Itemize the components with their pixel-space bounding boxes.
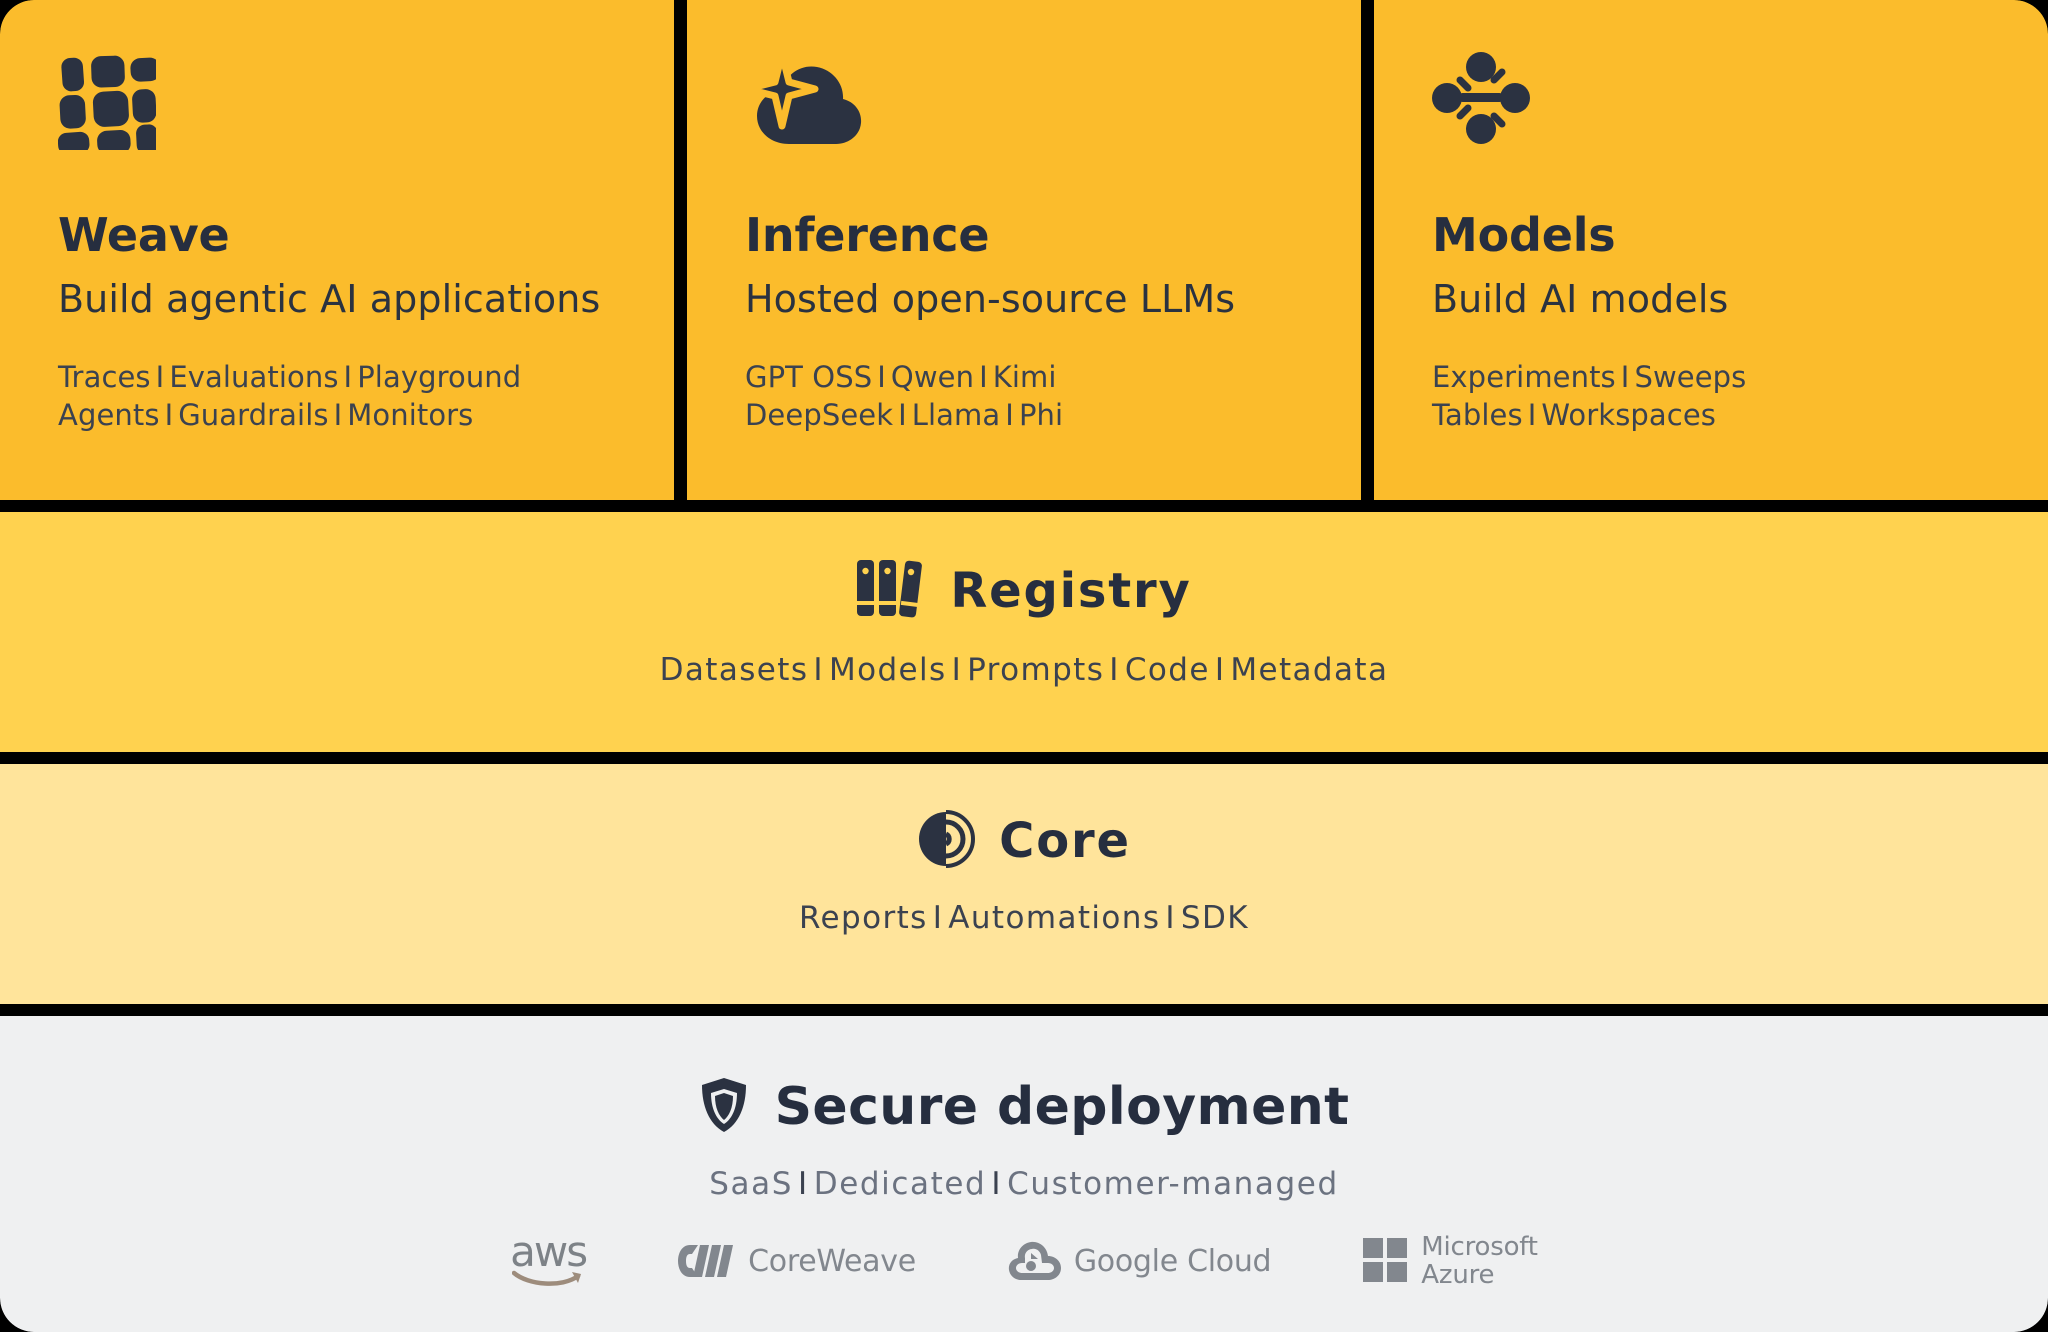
core-item: Reports [799, 900, 928, 936]
google-cloud-logo[interactable]: Google Cloud [1008, 1230, 1271, 1292]
card-title: Models [1432, 212, 1990, 258]
core-subtitle: ReportsIAutomationsISDK [799, 900, 1249, 936]
card-features: GPT OSSIQwenIKimi DeepSeekILlamaIPhi [745, 358, 1303, 435]
band-registry[interactable]: Registry DatasetsIModelsIPromptsICodeIMe… [0, 512, 2048, 752]
microsoft-line: Microsoft [1421, 1233, 1538, 1261]
core-item: SDK [1181, 900, 1249, 936]
azure-line: Azure [1421, 1261, 1538, 1289]
feature-item: Experiments [1432, 360, 1616, 394]
secure-item: Dedicated [814, 1166, 987, 1202]
feature-item: GPT OSS [745, 360, 872, 394]
weave-grid-icon [58, 52, 616, 148]
aws-smile-icon [512, 1270, 584, 1288]
core-header: Core [917, 810, 1131, 872]
platform-architecture-diagram: Weave Build agentic AI applications Trac… [0, 0, 2048, 1332]
feature-item: Guardrails [178, 398, 328, 432]
feature-item: Phi [1019, 398, 1063, 432]
card-weave[interactable]: Weave Build agentic AI applications Trac… [0, 0, 674, 500]
secure-subtitle: SaaSIDedicatedICustomer-managed [709, 1166, 1339, 1202]
aws-wordmark: aws [510, 1234, 586, 1270]
card-models[interactable]: Models Build AI models ExperimentsISweep… [1374, 0, 2048, 500]
product-cards-row: Weave Build agentic AI applications Trac… [0, 0, 2048, 500]
card-subtitle: Build agentic AI applications [58, 280, 616, 320]
registry-item: Code [1125, 652, 1210, 688]
registry-subtitle: DatasetsIModelsIPromptsICodeIMetadata [660, 652, 1389, 688]
microsoft-azure-wordmark: Microsoft Azure [1421, 1233, 1538, 1289]
feature-item: Llama [912, 398, 1001, 432]
feature-item: Playground [357, 360, 521, 394]
secure-title: Secure deployment [775, 1077, 1350, 1137]
cloud-sparkle-icon [745, 52, 1303, 148]
books-icon [856, 558, 926, 624]
registry-item: Models [829, 652, 947, 688]
registry-item: Prompts [967, 652, 1104, 688]
feature-item: Kimi [993, 360, 1057, 394]
nodes-network-icon [1432, 52, 1990, 148]
band-core[interactable]: Core ReportsIAutomationsISDK [0, 764, 2048, 1004]
card-title: Weave [58, 212, 616, 258]
feature-item: Agents [58, 398, 160, 432]
feature-item: DeepSeek [745, 398, 893, 432]
feature-item: Qwen [891, 360, 974, 394]
card-subtitle: Build AI models [1432, 280, 1990, 320]
shield-icon [699, 1076, 749, 1138]
aws-logo[interactable]: aws [510, 1230, 586, 1292]
registry-item: Datasets [660, 652, 809, 688]
feature-item: Workspaces [1541, 398, 1716, 432]
core-title: Core [999, 813, 1131, 869]
band-secure-deployment[interactable]: Secure deployment SaaSIDedicatedICustome… [0, 1016, 2048, 1332]
feature-line: DeepSeekILlamaIPhi [745, 396, 1303, 435]
feature-item: Tables [1432, 398, 1523, 432]
feature-line: TracesIEvaluationsIPlayground [58, 358, 616, 397]
coreweave-mark-icon [678, 1241, 736, 1281]
feature-line: AgentsIGuardrailsIMonitors [58, 396, 616, 435]
feature-item: Sweeps [1634, 360, 1746, 394]
google-cloud-mark-icon [1008, 1240, 1062, 1282]
card-features: TracesIEvaluationsIPlayground AgentsIGua… [58, 358, 616, 435]
registry-title: Registry [950, 563, 1191, 619]
card-title: Inference [745, 212, 1303, 258]
core-item: Automations [948, 900, 1160, 936]
feature-item: Traces [58, 360, 151, 394]
card-subtitle: Hosted open-source LLMs [745, 280, 1303, 320]
card-inference[interactable]: Inference Hosted open-source LLMs GPT OS… [687, 0, 1361, 500]
cloud-provider-logos: aws CoreWeave [510, 1230, 1538, 1292]
feature-line: ExperimentsISweeps [1432, 358, 1990, 397]
registry-header: Registry [856, 558, 1191, 624]
coreweave-logo[interactable]: CoreWeave [678, 1230, 916, 1292]
microsoft-windows-squares-icon [1363, 1238, 1409, 1284]
card-features: ExperimentsISweeps TablesIWorkspaces [1432, 358, 1990, 435]
secure-header: Secure deployment [699, 1076, 1350, 1138]
coreweave-wordmark: CoreWeave [748, 1244, 916, 1279]
secure-item: SaaS [709, 1166, 793, 1202]
feature-line: TablesIWorkspaces [1432, 396, 1990, 435]
registry-item: Metadata [1230, 652, 1388, 688]
secure-item: Customer-managed [1007, 1166, 1339, 1202]
microsoft-azure-logo[interactable]: Microsoft Azure [1363, 1230, 1538, 1292]
feature-item: Evaluations [169, 360, 338, 394]
feature-line: GPT OSSIQwenIKimi [745, 358, 1303, 397]
core-circle-icon [917, 810, 975, 872]
google-cloud-wordmark: Google Cloud [1074, 1244, 1271, 1279]
feature-item: Monitors [347, 398, 473, 432]
